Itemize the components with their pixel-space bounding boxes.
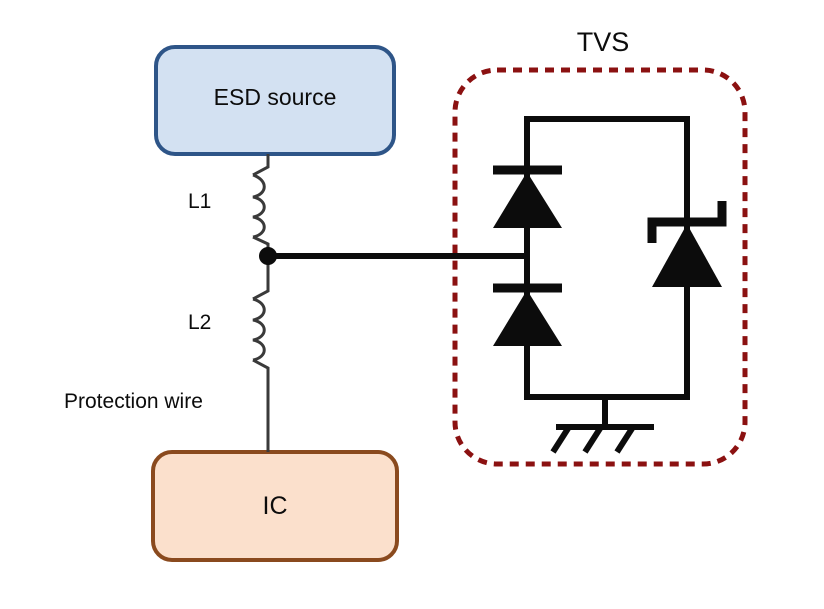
inductor-l2-coil bbox=[253, 299, 264, 360]
diode-top-anode-triangle bbox=[493, 172, 562, 228]
inductor-l1-coil bbox=[253, 175, 264, 237]
protection-wire-label: Protection wire bbox=[64, 390, 203, 414]
diagram-canvas: TVS ESD source IC L1 L2 Protection wire bbox=[0, 0, 824, 609]
circuit-schematic bbox=[0, 0, 824, 609]
ground-hatch-1 bbox=[553, 427, 569, 452]
ground-hatch-3 bbox=[617, 427, 633, 452]
wire-esd-to-l1 bbox=[253, 154, 268, 175]
junction-node-dot bbox=[259, 247, 277, 265]
inductor-l2-label: L2 bbox=[188, 311, 211, 335]
diode-bottom-anode-triangle bbox=[493, 290, 562, 346]
zener-diode-anode-triangle bbox=[652, 224, 722, 287]
inductor-l1-label: L1 bbox=[188, 190, 211, 214]
ground-hatch-2 bbox=[585, 427, 601, 452]
wire-l2-to-ic bbox=[253, 360, 268, 452]
ic-label: IC bbox=[153, 492, 397, 521]
tvs-label: TVS bbox=[523, 27, 683, 58]
esd-source-label: ESD source bbox=[156, 84, 394, 111]
